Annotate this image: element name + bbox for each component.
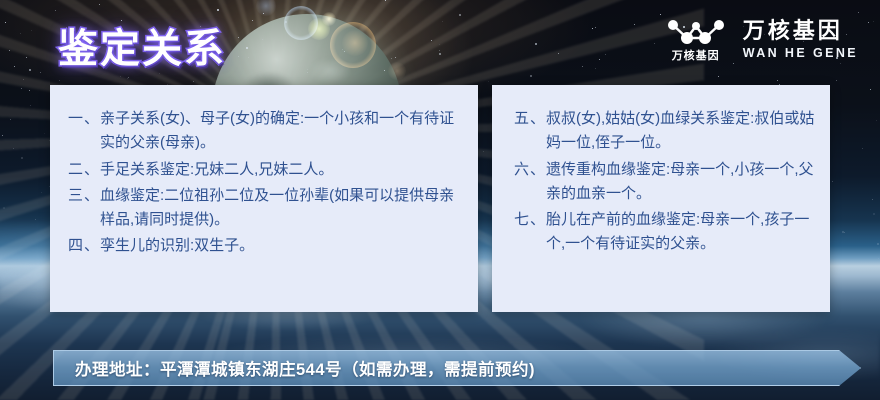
page-title: 鉴定关系 [58, 16, 226, 74]
list-item: 三、 血缘鉴定:二位祖孙二位及一位孙辈(如果可以提供母亲样品,请同时提供)。 [68, 184, 464, 233]
list-item-number: 六、 [514, 158, 546, 207]
content-panels: 一、 亲子关系(女)、母子(女)的确定:一个小孩和一个有待证实的父亲(母亲)。 … [50, 85, 830, 312]
list-item: 七、 胎儿在产前的血缘鉴定:母亲一个,孩子一个,一个有待证实的父亲。 [514, 208, 816, 257]
brand-name-block: 万核基因 WAN HE GENE [743, 18, 858, 59]
list-item-number: 二、 [68, 158, 100, 182]
list-item-text: 手足关系鉴定:兄妹二人,兄妹二人。 [100, 158, 464, 182]
list-item-number: 七、 [514, 208, 546, 257]
service-list-panel-left: 一、 亲子关系(女)、母子(女)的确定:一个小孩和一个有待证实的父亲(母亲)。 … [50, 85, 478, 312]
list-item: 六、 遗传重构血缘鉴定:母亲一个,小孩一个,父亲的血亲一个。 [514, 158, 816, 207]
list-item-number: 五、 [514, 107, 546, 156]
list-item-text: 亲子关系(女)、母子(女)的确定:一个小孩和一个有待证实的父亲(母亲)。 [100, 107, 464, 156]
list-item-number: 一、 [68, 107, 100, 156]
list-item-text: 血缘鉴定:二位祖孙二位及一位孙辈(如果可以提供母亲样品,请同时提供)。 [100, 184, 464, 233]
brand-lockup: 万核基因 万核基因 WAN HE GENE [663, 16, 858, 62]
list-item-number: 三、 [68, 184, 100, 233]
brand-name-en: WAN HE GENE [743, 46, 858, 60]
list-item-text: 遗传重构血缘鉴定:母亲一个,小孩一个,父亲的血亲一个。 [546, 158, 816, 207]
address-banner-text: 办理地址：平潭潭城镇东湖庄544号（如需办理，需提前预约) [53, 350, 861, 386]
list-item: 二、 手足关系鉴定:兄妹二人,兄妹二人。 [68, 158, 464, 182]
list-item-text: 叔叔(女),姑姑(女)血绿关系鉴定:叔伯或姑妈一位,侄子一位。 [546, 107, 816, 156]
list-item-text: 孪生儿的识别:双生子。 [100, 234, 464, 258]
list-item-number: 四、 [68, 234, 100, 258]
dna-molecule-icon: 万核基因 [663, 16, 729, 62]
brand-name-cn: 万核基因 [743, 18, 843, 43]
address-banner: 办理地址：平潭潭城镇东湖庄544号（如需办理，需提前预约) [53, 350, 861, 386]
list-item: 五、 叔叔(女),姑姑(女)血绿关系鉴定:叔伯或姑妈一位,侄子一位。 [514, 107, 816, 156]
list-item: 四、 孪生儿的识别:双生子。 [68, 234, 464, 258]
brand-logo-caption: 万核基因 [663, 47, 729, 63]
list-item-text: 胎儿在产前的血缘鉴定:母亲一个,孩子一个,一个有待证实的父亲。 [546, 208, 816, 257]
list-item: 一、 亲子关系(女)、母子(女)的确定:一个小孩和一个有待证实的父亲(母亲)。 [68, 107, 464, 156]
service-list-panel-right: 五、 叔叔(女),姑姑(女)血绿关系鉴定:叔伯或姑妈一位,侄子一位。 六、 遗传… [492, 85, 830, 312]
poster-canvas: 鉴定关系 万核基因 [0, 0, 880, 400]
